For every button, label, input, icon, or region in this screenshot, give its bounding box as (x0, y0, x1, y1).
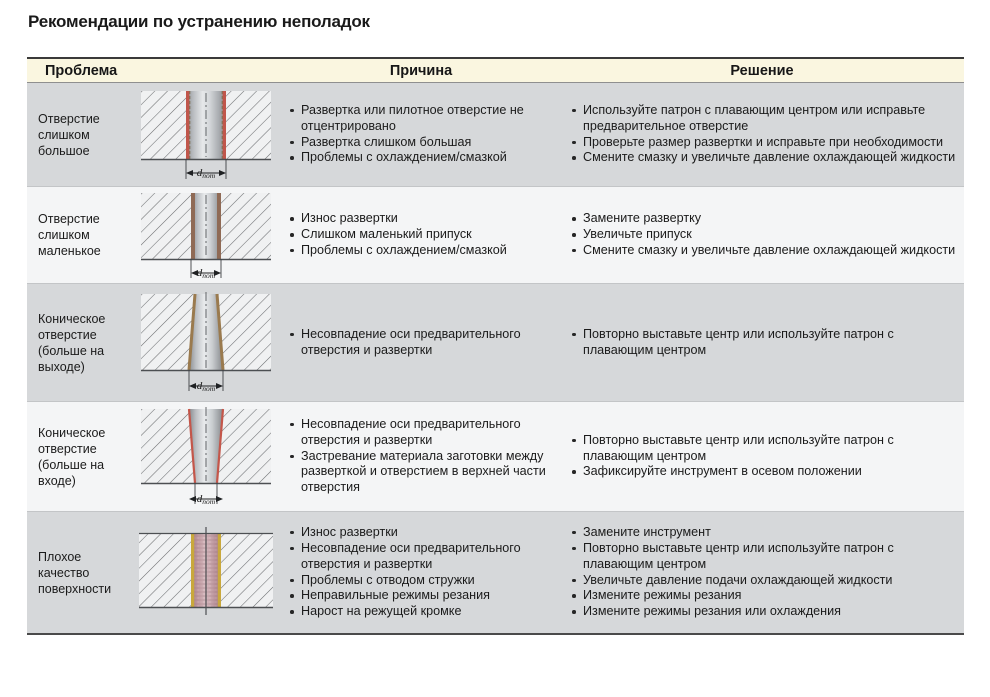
cell-cause: Несовпадение оси предварительного отверс… (282, 402, 560, 511)
list-item: Повторно выставьте центр или используйте… (570, 433, 958, 465)
list-item: Развертка слишком большая (288, 135, 556, 151)
hole-rough-surface-diagram (133, 523, 279, 623)
list-item: Увеличьте припуск (570, 227, 958, 243)
cell-problem: Отверстие слишком большое (27, 83, 130, 186)
solution-list: Повторно выставьте центр или используйте… (570, 327, 958, 359)
cell-problem: Отверстие слишком маленькое (27, 187, 130, 283)
list-item: Замените инструмент (570, 525, 958, 541)
solution-list: Замените инструмент Повторно выставьте ц… (570, 525, 958, 621)
list-item: Зафиксируйте инструмент в осевом положен… (570, 464, 958, 480)
column-header-cause: Причина (282, 63, 560, 79)
column-header-solution: Решение (560, 63, 964, 79)
list-item: Износ развертки (288, 211, 556, 227)
dimension-label: dnom (197, 267, 216, 280)
list-item: Используйте патрон с плавающим центром и… (570, 103, 958, 135)
list-item: Измените режимы резания или охлаждения (570, 604, 958, 620)
cause-list: Несовпадение оси предварительного отверс… (288, 417, 556, 497)
cell-figure: dnom (130, 402, 282, 511)
list-item: Неправильные режимы резания (288, 588, 556, 604)
list-item: Износ развертки (288, 525, 556, 541)
list-item: Проблемы с отводом стружки (288, 573, 556, 589)
cell-solution: Повторно выставьте центр или используйте… (560, 402, 964, 511)
cell-solution: Замените развертку Увеличьте припуск Сме… (560, 187, 964, 283)
table-body: Отверстие слишком большое (27, 83, 964, 635)
dimension-label: dnom (197, 167, 216, 180)
table-row: Коническое отверстие (больше на выходе) (27, 283, 964, 401)
list-item: Повторно выставьте центр или используйте… (570, 327, 958, 359)
cause-list: Износ развертки Слишком маленький припус… (288, 211, 556, 259)
list-item: Застревание материала заготовки между ра… (288, 449, 556, 497)
cell-problem: Коническое отверстие (больше на входе) (27, 402, 130, 511)
column-header-problem: Проблема (27, 63, 282, 79)
cell-problem: Плохое качество поверхности (27, 512, 130, 633)
list-item: Замените развертку (570, 211, 958, 227)
cause-list: Развертка или пилотное отверстие не отце… (288, 103, 556, 167)
list-item: Проверьте размер развертки и исправьте п… (570, 135, 958, 151)
table-row: Отверстие слишком большое (27, 83, 964, 186)
hole-taper-exit-diagram: dnom (133, 290, 279, 396)
list-item: Несовпадение оси предварительного отверс… (288, 417, 556, 449)
cell-cause: Износ развертки Слишком маленький припус… (282, 187, 560, 283)
cause-list: Износ развертки Несовпадение оси предвар… (288, 525, 556, 621)
list-item: Проблемы с охлаждением/смазкой (288, 243, 556, 259)
list-item: Слишком маленький припуск (288, 227, 556, 243)
cell-cause: Несовпадение оси предварительного отверс… (282, 284, 560, 401)
cell-solution: Используйте патрон с плавающим центром и… (560, 83, 964, 186)
dimension-label: dnom (197, 380, 216, 393)
hole-taper-entry-diagram: dnom (133, 405, 279, 509)
cell-figure: dnom (130, 187, 282, 283)
list-item: Смените смазку и увеличьте давление охла… (570, 243, 958, 259)
cell-figure: dnom (130, 284, 282, 401)
cell-solution: Замените инструмент Повторно выставьте ц… (560, 512, 964, 633)
cause-list: Несовпадение оси предварительного отверс… (288, 327, 556, 359)
cell-cause: Износ развертки Несовпадение оси предвар… (282, 512, 560, 633)
list-item: Увеличьте давление подачи охлаждающей жи… (570, 573, 958, 589)
solution-list: Замените развертку Увеличьте припуск Сме… (570, 211, 958, 259)
table-row: Отверстие слишком маленькое (27, 186, 964, 283)
list-item: Измените режимы резания (570, 588, 958, 604)
cell-figure (130, 512, 282, 633)
troubleshooting-table: Проблема Причина Решение Отверстие слишк… (27, 57, 964, 635)
table-row: Плохое качество поверхности (27, 511, 964, 633)
page-title: Рекомендации по устранению неполадок (28, 12, 370, 32)
table-header-row: Проблема Причина Решение (27, 57, 964, 83)
cell-figure: dnom (130, 83, 282, 186)
hole-oversize-diagram: dnom (133, 87, 279, 182)
troubleshooting-page: Рекомендации по устранению неполадок Про… (0, 0, 990, 697)
list-item: Повторно выставьте центр или используйте… (570, 541, 958, 573)
list-item: Развертка или пилотное отверстие не отце… (288, 103, 556, 135)
cell-solution: Повторно выставьте центр или используйте… (560, 284, 964, 401)
cell-problem: Коническое отверстие (больше на выходе) (27, 284, 130, 401)
list-item: Проблемы с охлаждением/смазкой (288, 150, 556, 166)
list-item: Несовпадение оси предварительного отверс… (288, 327, 556, 359)
cell-cause: Развертка или пилотное отверстие не отце… (282, 83, 560, 186)
dimension-label: dnom (197, 493, 216, 506)
solution-list: Повторно выставьте центр или используйте… (570, 433, 958, 481)
table-row: Коническое отверстие (больше на входе) (27, 401, 964, 511)
hole-undersize-diagram: dnom (133, 189, 279, 281)
list-item: Нарост на режущей кромке (288, 604, 556, 620)
solution-list: Используйте патрон с плавающим центром и… (570, 103, 958, 167)
list-item: Несовпадение оси предварительного отверс… (288, 541, 556, 573)
list-item: Смените смазку и увеличьте давление охла… (570, 150, 958, 166)
